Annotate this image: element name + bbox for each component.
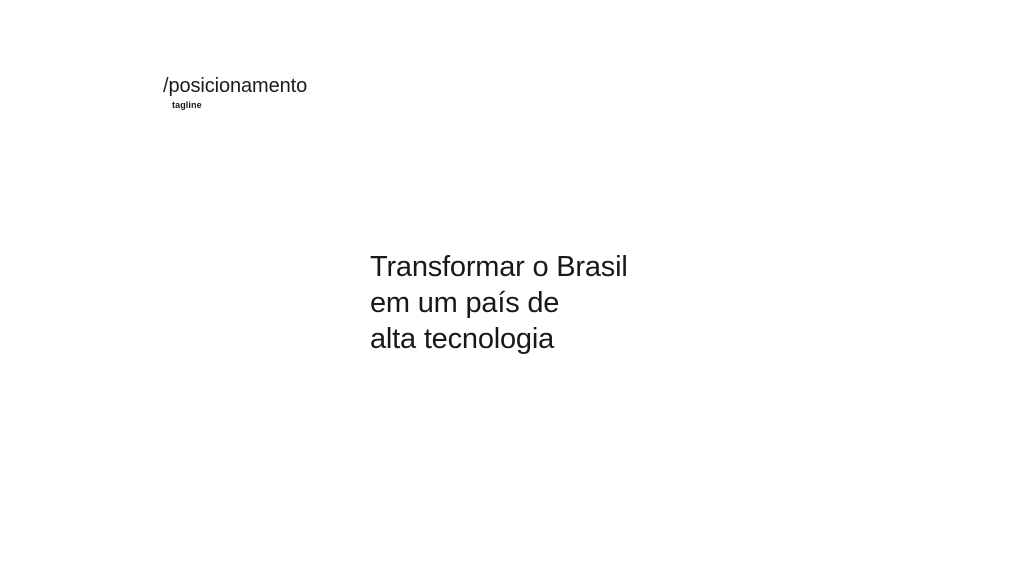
headline-line-3: alta tecnologia xyxy=(370,321,790,357)
headline: Transformar o Brasil em um país de alta … xyxy=(370,249,790,357)
headline-line-1: Transformar o Brasil xyxy=(370,249,790,285)
headline-line-2: em um país de xyxy=(370,285,790,321)
section-label-title: /posicionamento xyxy=(163,74,423,98)
section-label: /posicionamento tagline xyxy=(163,74,423,111)
section-label-tagline: tagline xyxy=(172,100,423,111)
slide-canvas: /posicionamento tagline Transformar o Br… xyxy=(0,0,1024,568)
